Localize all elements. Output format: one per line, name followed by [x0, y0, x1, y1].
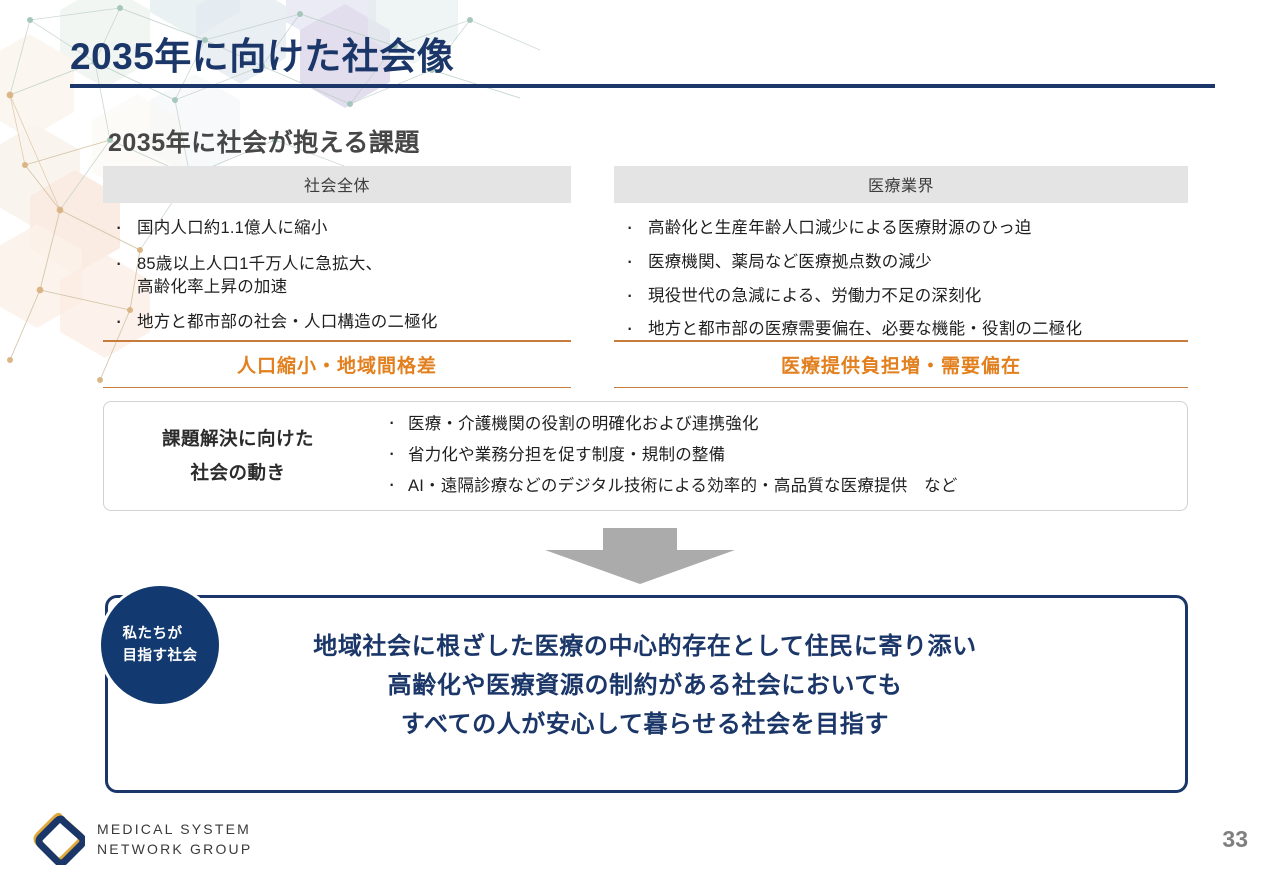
- list-item: 現役世代の急減による、労働力不足の深刻化: [618, 285, 1188, 308]
- column-header-society: 社会全体: [103, 166, 571, 203]
- column-header-healthcare: 医療業界: [614, 166, 1188, 203]
- column-healthcare: 医療業界 高齢化と生産年齢人口減少による医療財源のひっ迫 医療機関、薬局など医療…: [614, 166, 1188, 357]
- diamond-logo-icon: [33, 813, 85, 865]
- summary-society: 人口縮小・地域間格差: [103, 340, 571, 388]
- list-item: 地方と都市部の社会・人口構造の二極化: [107, 311, 571, 334]
- list-item: AI・遠隔診療などのデジタル技術による効率的・高品質な医療提供 など: [382, 477, 1187, 497]
- list-item: 85歳以上人口1千万人に急拡大、高齢化率上昇の加速: [107, 253, 571, 299]
- logo-line-2: NETWORK GROUP: [97, 839, 252, 859]
- vision-text: 地域社会に根ざした医療の中心的存在として住民に寄り添い 高齢化や医療資源の制約が…: [140, 628, 1150, 745]
- page-title: 2035年に向けた社会像: [70, 36, 1215, 77]
- list-item: 国内人口約1.1億人に縮小: [107, 217, 571, 240]
- vision-line: 地域社会に根ざした医療の中心的存在として住民に寄り添い: [140, 628, 1150, 667]
- summary-rule-bottom: [103, 387, 571, 389]
- down-arrow-icon: [545, 528, 735, 584]
- summary-rule-bottom: [614, 387, 1188, 389]
- summary-healthcare: 医療提供負担増・需要偏在: [614, 340, 1188, 388]
- company-logo: MEDICAL SYSTEM NETWORK GROUP: [33, 813, 252, 865]
- solutions-list: 医療・介護機関の役割の明確化および連携強化 省力化や業務分担を促す制度・規制の整…: [372, 415, 1187, 496]
- page-number: 33: [1222, 826, 1248, 853]
- title-underline: [70, 84, 1215, 88]
- bullet-list-healthcare: 高齢化と生産年齢人口減少による医療財源のひっ迫 医療機関、薬局など医療拠点数の減…: [614, 217, 1188, 341]
- vision-line: 高齢化や医療資源の制約がある社会においても: [140, 667, 1150, 706]
- vision-badge: 私たちが目指す社会: [98, 583, 222, 707]
- slide-canvas: 2035年に向けた社会像 2035年に社会が抱える課題 社会全体 国内人口約1.…: [0, 0, 1280, 886]
- summary-label-healthcare: 医療提供負担増・需要偏在: [614, 342, 1188, 387]
- vision-line: すべての人が安心して暮らせる社会を目指す: [140, 706, 1150, 745]
- summary-label-society: 人口縮小・地域間格差: [103, 342, 571, 387]
- list-item: 高齢化と生産年齢人口減少による医療財源のひっ迫: [618, 217, 1188, 240]
- list-item: 医療・介護機関の役割の明確化および連携強化: [382, 415, 1187, 435]
- title-block: 2035年に向けた社会像: [70, 36, 1215, 88]
- list-item: 医療機関、薬局など医療拠点数の減少: [618, 251, 1188, 274]
- logo-wordmark: MEDICAL SYSTEM NETWORK GROUP: [97, 819, 252, 860]
- logo-line-1: MEDICAL SYSTEM: [97, 819, 252, 839]
- bullet-list-society: 国内人口約1.1億人に縮小 85歳以上人口1千万人に急拡大、高齢化率上昇の加速 …: [103, 217, 571, 334]
- list-item: 地方と都市部の医療需要偏在、必要な機能・役割の二極化: [618, 318, 1188, 341]
- list-item: 省力化や業務分担を促す制度・規制の整備: [382, 446, 1187, 466]
- solutions-box: 課題解決に向けた社会の動き 医療・介護機関の役割の明確化および連携強化 省力化や…: [103, 401, 1188, 511]
- section-heading: 2035年に社会が抱える課題: [108, 123, 420, 159]
- solutions-label: 課題解決に向けた社会の動き: [104, 422, 372, 490]
- column-society: 社会全体 国内人口約1.1億人に縮小 85歳以上人口1千万人に急拡大、高齢化率上…: [103, 166, 571, 350]
